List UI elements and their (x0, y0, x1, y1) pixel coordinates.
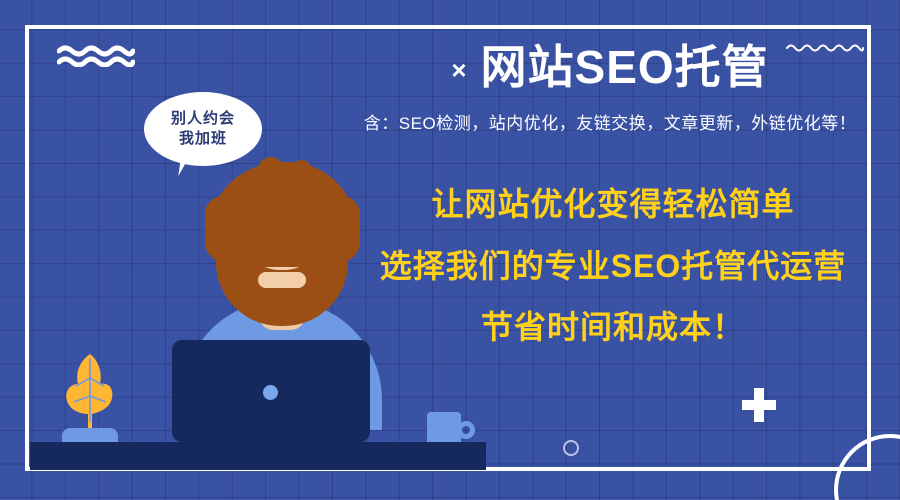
laptop-logo-dot (263, 385, 278, 400)
circle-outline-icon (834, 434, 900, 500)
speech-bubble: 别人约会 我加班 (144, 92, 262, 166)
speech-bubble-line-2: 我加班 (179, 129, 227, 149)
potted-plant-icon (62, 352, 118, 436)
speech-bubble-line-1: 别人约会 (171, 109, 235, 129)
mouth-shape (258, 272, 306, 288)
seo-hosting-banner: × 网站SEO托管 含：SEO检测，站内优化，友链交换，文章更新，外链优化等！ … (0, 0, 900, 500)
plus-icon (742, 388, 776, 422)
small-circle-icon (563, 440, 579, 456)
hair-spike-a (256, 155, 287, 186)
page-title: 网站SEO托管 (481, 42, 769, 93)
desk-surface (30, 442, 486, 470)
